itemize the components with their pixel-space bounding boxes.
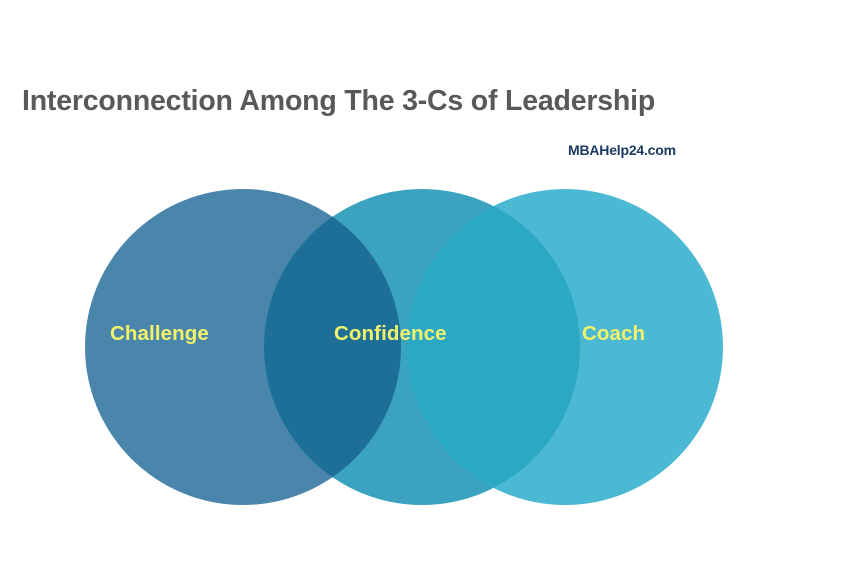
diagram-canvas: Interconnection Among The 3-Cs of Leader… [0, 0, 844, 580]
venn-label-challenge: Challenge [110, 322, 209, 346]
venn-diagram [0, 0, 844, 580]
venn-label-confidence: Confidence [334, 322, 447, 346]
venn-label-coach: Coach [582, 322, 645, 346]
